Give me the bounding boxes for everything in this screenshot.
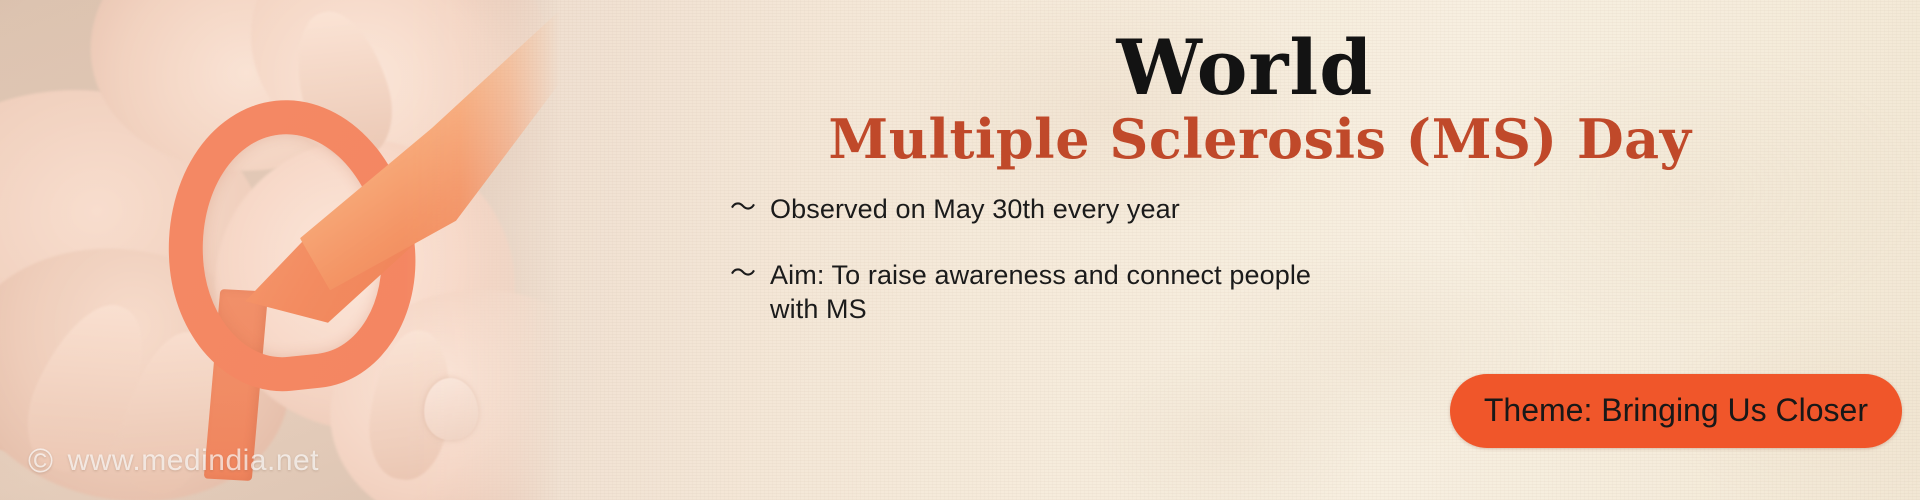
bullet-text: Observed on May 30th every year bbox=[770, 192, 1180, 226]
list-item: 〜 Observed on May 30th every year bbox=[730, 192, 1430, 226]
copyright-icon: © bbox=[28, 444, 54, 478]
bullet-text-line2: with MS bbox=[770, 292, 1311, 326]
list-item: 〜 Aim: To raise awareness and connect pe… bbox=[730, 258, 1430, 326]
hands-ribbon-photo bbox=[0, 0, 560, 500]
banner-content: World Multiple Sclerosis (MS) Day 〜 Obse… bbox=[640, 0, 1920, 500]
page-title: World bbox=[640, 30, 1850, 106]
photo-canvas bbox=[0, 0, 560, 500]
theme-badge: Theme: Bringing Us Closer bbox=[1450, 374, 1902, 448]
ms-day-banner: © www.medindia.net World Multiple Sclero… bbox=[0, 0, 1920, 500]
bullet-text: Aim: To raise awareness and connect peop… bbox=[770, 258, 1311, 326]
watermark-url: www.medindia.net bbox=[68, 444, 319, 478]
bullet-list: 〜 Observed on May 30th every year 〜 Aim:… bbox=[730, 192, 1430, 358]
watermark: © www.medindia.net bbox=[28, 444, 319, 478]
tilde-bullet-icon: 〜 bbox=[730, 258, 756, 288]
page-subtitle: Multiple Sclerosis (MS) Day bbox=[640, 112, 1880, 166]
bullet-text-line1: Aim: To raise awareness and connect peop… bbox=[770, 260, 1311, 290]
tilde-bullet-icon: 〜 bbox=[730, 192, 756, 222]
